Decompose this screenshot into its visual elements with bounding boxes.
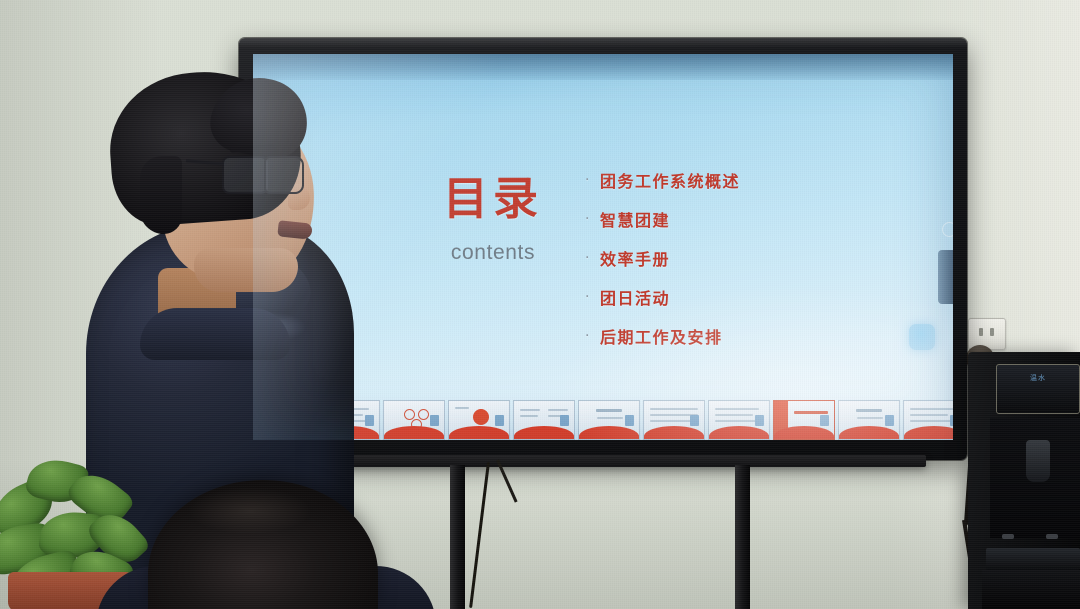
bullet-marker-icon: · xyxy=(585,250,591,266)
slide-thumbnail[interactable] xyxy=(513,400,575,440)
dispenser-spout xyxy=(1026,440,1050,482)
glasses-icon xyxy=(222,156,314,194)
glasses-lens-right xyxy=(264,156,304,194)
slide-thumbnail[interactable] xyxy=(448,400,510,440)
screen-tool-button[interactable] xyxy=(909,324,935,350)
dispenser-base xyxy=(982,570,1080,609)
slide-title: 目录 xyxy=(393,176,593,221)
slide-thumbnail[interactable] xyxy=(708,400,770,440)
presenter-collar xyxy=(140,308,290,360)
agenda-item-label: 后期工作及安排 xyxy=(600,324,723,348)
slide-heading-block: 目录 contents xyxy=(393,176,593,265)
slide-thumbnail[interactable] xyxy=(383,400,445,440)
dispenser-display-panel[interactable]: 温水 xyxy=(996,364,1080,414)
slide-agenda-list: · 团务工作系统概述 · 智慧团建 · 效率手册 · 团日活动 xyxy=(585,168,740,363)
presenter-head xyxy=(110,72,322,292)
bullet-marker-icon: · xyxy=(585,211,591,227)
presenter-mouth xyxy=(277,220,312,239)
screen-side-handle-icon[interactable] xyxy=(938,250,953,304)
agenda-item: · 效率手册 xyxy=(585,246,740,270)
slide-thumbnail[interactable] xyxy=(903,400,953,440)
agenda-item-label: 效率手册 xyxy=(600,246,670,270)
agenda-item: · 后期工作及安排 xyxy=(585,324,740,348)
agenda-item-label: 团日活动 xyxy=(600,285,670,309)
agenda-item: · 团日活动 xyxy=(585,285,740,309)
presentation-room-scene: 目录 contents · 团务工作系统概述 · 智慧团建 · 效率手册 xyxy=(0,0,1080,609)
presenter-sideburn xyxy=(140,156,182,234)
agenda-item: · 智慧团建 xyxy=(585,207,740,231)
slide-subtitle: contents xyxy=(393,241,593,265)
slide-thumbnail[interactable] xyxy=(773,400,835,440)
bullet-marker-icon: · xyxy=(585,328,591,344)
display-stand-leg-left xyxy=(450,465,465,609)
agenda-item-label: 智慧团建 xyxy=(600,207,670,231)
agenda-item-label: 团务工作系统概述 xyxy=(600,168,740,192)
dispenser-drip-tray xyxy=(986,548,1080,570)
bullet-marker-icon: · xyxy=(585,172,591,188)
dispenser-button[interactable] xyxy=(1046,534,1058,539)
display-stand-leg-right xyxy=(735,465,750,609)
presenter-jaw xyxy=(194,248,298,292)
agenda-item: · 团务工作系统概述 xyxy=(585,168,740,192)
slide-thumbnail[interactable] xyxy=(643,400,705,440)
slide-thumbnail[interactable] xyxy=(838,400,900,440)
dispenser-button[interactable] xyxy=(1002,534,1014,539)
bullet-marker-icon: · xyxy=(585,289,591,305)
water-dispenser: 温水 xyxy=(968,352,1080,609)
glasses-lens-left xyxy=(222,156,268,194)
slide-thumbnail[interactable] xyxy=(578,400,640,440)
